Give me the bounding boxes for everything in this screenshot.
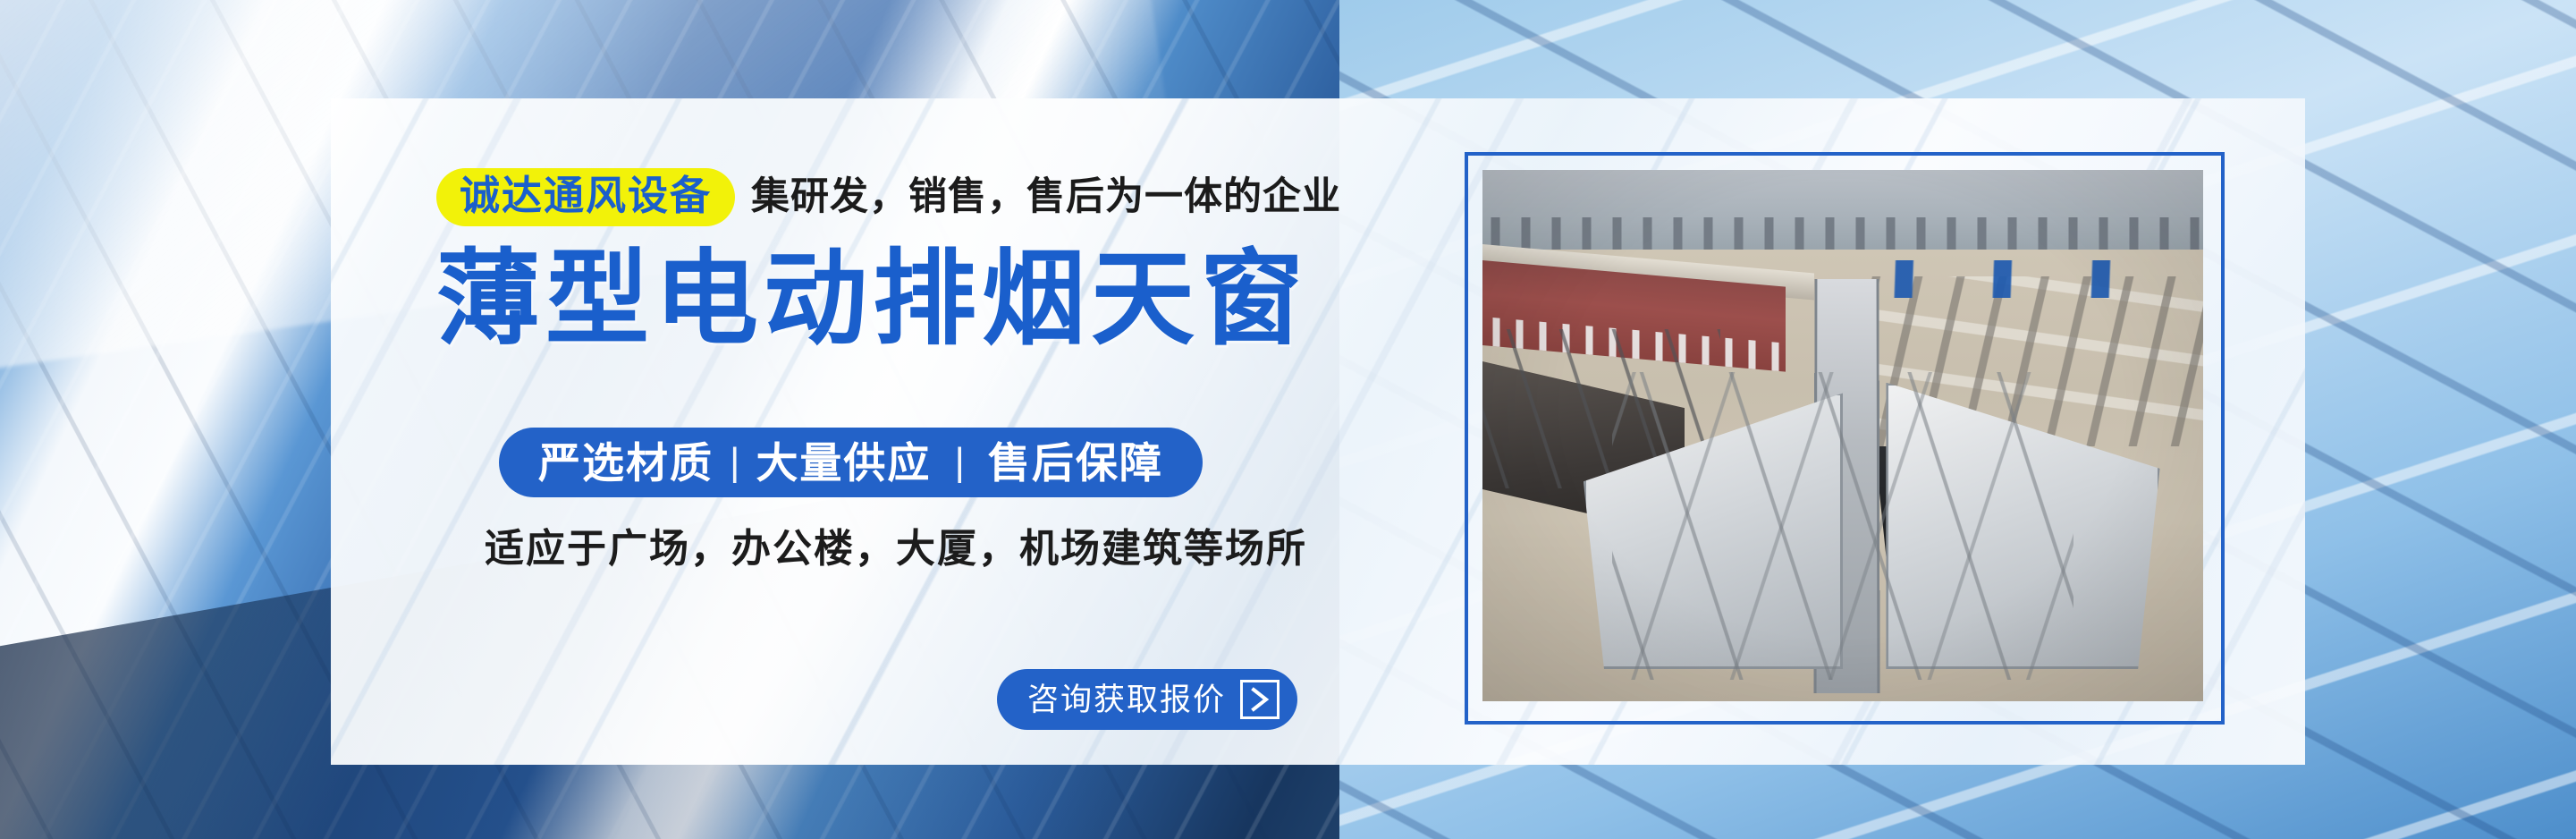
feature-separator-1: |: [714, 443, 756, 482]
feature-item-2: 大量供应: [756, 442, 931, 484]
feature-separator-2: |: [931, 443, 987, 482]
scenario-text: 适应于广场，办公楼，大厦，机场建筑等场所: [485, 530, 1307, 569]
tagline-text: 集研发，销售，售后为一体的企业: [751, 178, 1341, 216]
tagline-row: 诚达通风设备 集研发，销售，售后为一体的企业: [436, 168, 1341, 226]
product-photo-frame: [1465, 152, 2225, 725]
quote-cta-label: 咨询获取报价: [1027, 684, 1226, 716]
brand-badge: 诚达通风设备: [436, 168, 735, 226]
product-photo: [1482, 170, 2203, 701]
quote-cta-button[interactable]: 咨询获取报价: [997, 669, 1297, 730]
page-title: 薄型电动排烟天窗: [436, 242, 1309, 358]
feature-bar: 严选材质 | 大量供应 | 售后保障: [499, 428, 1203, 497]
promo-banner: 诚达通风设备 集研发，销售，售后为一体的企业 薄型电动排烟天窗 严选材质 | 大…: [0, 0, 2576, 839]
photo-vignette: [1482, 170, 2203, 701]
chevron-right-icon: [1240, 680, 1280, 719]
feature-item-1: 严选材质: [538, 442, 714, 484]
text-column: 诚达通风设备 集研发，销售，售后为一体的企业 薄型电动排烟天窗 严选材质 | 大…: [436, 98, 1420, 765]
feature-item-3: 售后保障: [988, 442, 1163, 484]
